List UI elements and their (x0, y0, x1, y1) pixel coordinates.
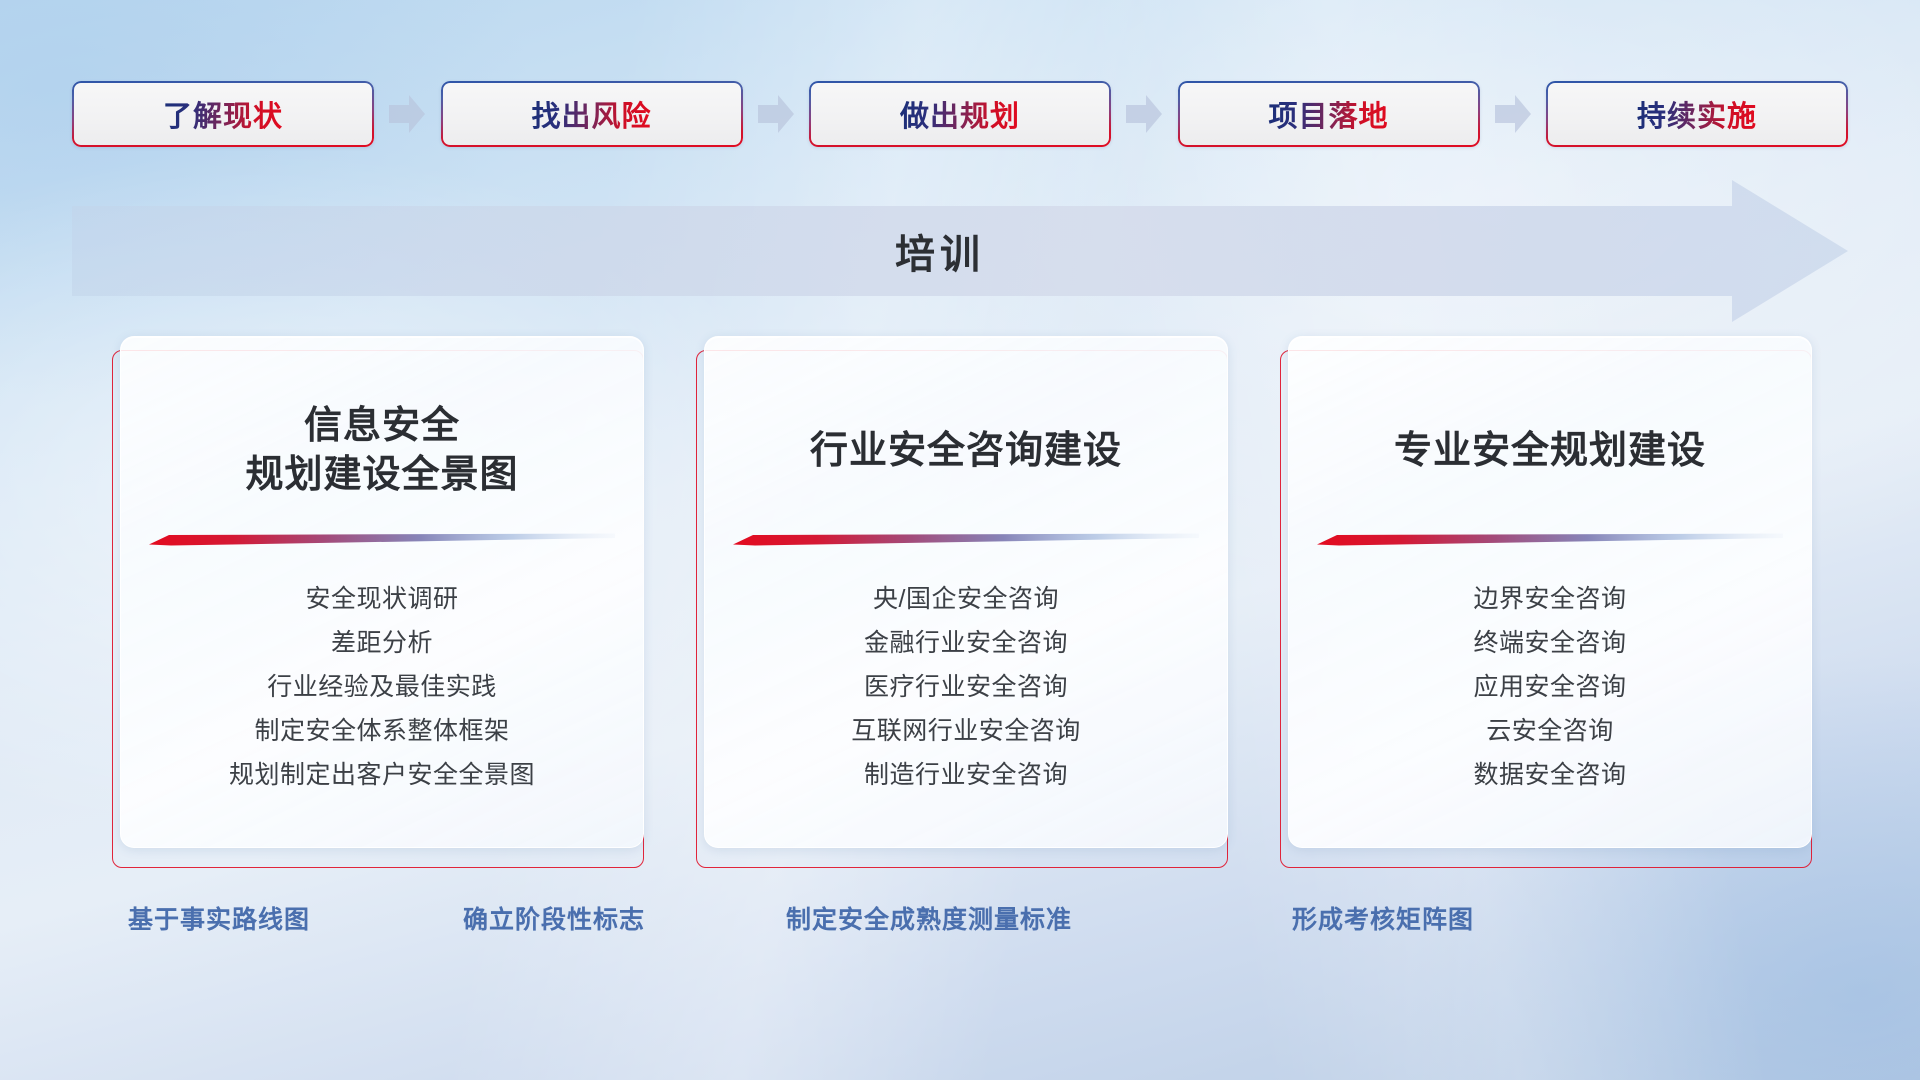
caption-row: 基于事实路线图 确立阶段性标志 制定安全成熟度测量标准 形成考核矩阵图 (0, 900, 1920, 944)
card-title: 行业安全咨询建设 (810, 427, 1122, 476)
card-title-slot: 行业安全咨询建设 (810, 377, 1122, 525)
card-divider-icon (149, 533, 615, 547)
card-row: 信息安全 规划建设全景图 (112, 336, 1812, 872)
caption-item: 确立阶段性标志 (463, 900, 645, 936)
arrow-right-icon (1124, 92, 1164, 136)
caption-item: 形成考核矩阵图 (1292, 900, 1474, 936)
list-item: 云安全咨询 (1319, 709, 1781, 753)
list-item: 医疗行业安全咨询 (735, 665, 1197, 709)
training-banner: 培训 (72, 180, 1848, 322)
step-box-3[interactable]: 做出规划 (809, 81, 1111, 147)
slide-canvas: 了解现状 找出风险 做出规划 项目落地 (0, 0, 1920, 1080)
step-box-2[interactable]: 找出风险 (441, 81, 743, 147)
card-divider-slot (1319, 525, 1781, 547)
step-box-1[interactable]: 了解现状 (72, 81, 374, 147)
card-professional-security-planning[interactable]: 专业安全规划建设 (1288, 336, 1812, 848)
caption-item: 制定安全成熟度测量标准 (786, 900, 1072, 936)
list-item: 行业经验及最佳实践 (151, 665, 613, 709)
list-item: 制造行业安全咨询 (735, 753, 1197, 797)
list-item: 差距分析 (151, 621, 613, 665)
card-1-wrapper: 信息安全 规划建设全景图 (112, 336, 644, 872)
list-item: 应用安全咨询 (1319, 665, 1781, 709)
list-item: 规划制定出客户安全全景图 (151, 753, 613, 797)
caption-item: 基于事实路线图 (128, 900, 310, 936)
step-box-4[interactable]: 项目落地 (1178, 81, 1480, 147)
card-divider-icon (733, 533, 1199, 547)
step-label: 做出规划 (900, 93, 1020, 135)
list-item: 边界安全咨询 (1319, 577, 1781, 621)
process-step-row: 了解现状 找出风险 做出规划 项目落地 (72, 80, 1848, 148)
arrow-right-icon (756, 92, 796, 136)
step-label: 持续实施 (1637, 93, 1757, 135)
card-item-list: 安全现状调研 差距分析 行业经验及最佳实践 制定安全体系整体框架 规划制定出客户… (151, 547, 613, 797)
arrow-right-icon (387, 92, 427, 136)
list-item: 互联网行业安全咨询 (735, 709, 1197, 753)
card-divider-slot (735, 525, 1197, 547)
card-divider-slot (151, 525, 613, 547)
card-title: 专业安全规划建设 (1394, 427, 1706, 476)
list-item: 制定安全体系整体框架 (151, 709, 613, 753)
card-divider-icon (1317, 533, 1783, 547)
step-label: 项目落地 (1268, 93, 1388, 135)
step-box-5[interactable]: 持续实施 (1546, 81, 1848, 147)
list-item: 终端安全咨询 (1319, 621, 1781, 665)
card-item-list: 边界安全咨询 终端安全咨询 应用安全咨询 云安全咨询 数据安全咨询 (1319, 547, 1781, 797)
card-title-slot: 专业安全规划建设 (1394, 377, 1706, 525)
card-information-security-blueprint[interactable]: 信息安全 规划建设全景图 (120, 336, 644, 848)
card-2-wrapper: 行业安全咨询建设 (696, 336, 1228, 872)
banner-title: 培训 (72, 180, 1808, 322)
card-item-list: 央/国企安全咨询 金融行业安全咨询 医疗行业安全咨询 互联网行业安全咨询 制造行… (735, 547, 1197, 797)
card-3-wrapper: 专业安全规划建设 (1280, 336, 1812, 872)
step-label: 了解现状 (163, 93, 283, 135)
list-item: 央/国企安全咨询 (735, 577, 1197, 621)
card-industry-security-consulting[interactable]: 行业安全咨询建设 (704, 336, 1228, 848)
list-item: 金融行业安全咨询 (735, 621, 1197, 665)
card-title-slot: 信息安全 规划建设全景图 (245, 377, 518, 525)
arrow-right-icon (1493, 92, 1533, 136)
list-item: 安全现状调研 (151, 577, 613, 621)
list-item: 数据安全咨询 (1319, 753, 1781, 797)
step-label: 找出风险 (531, 93, 651, 135)
card-title: 信息安全 规划建设全景图 (245, 402, 518, 499)
